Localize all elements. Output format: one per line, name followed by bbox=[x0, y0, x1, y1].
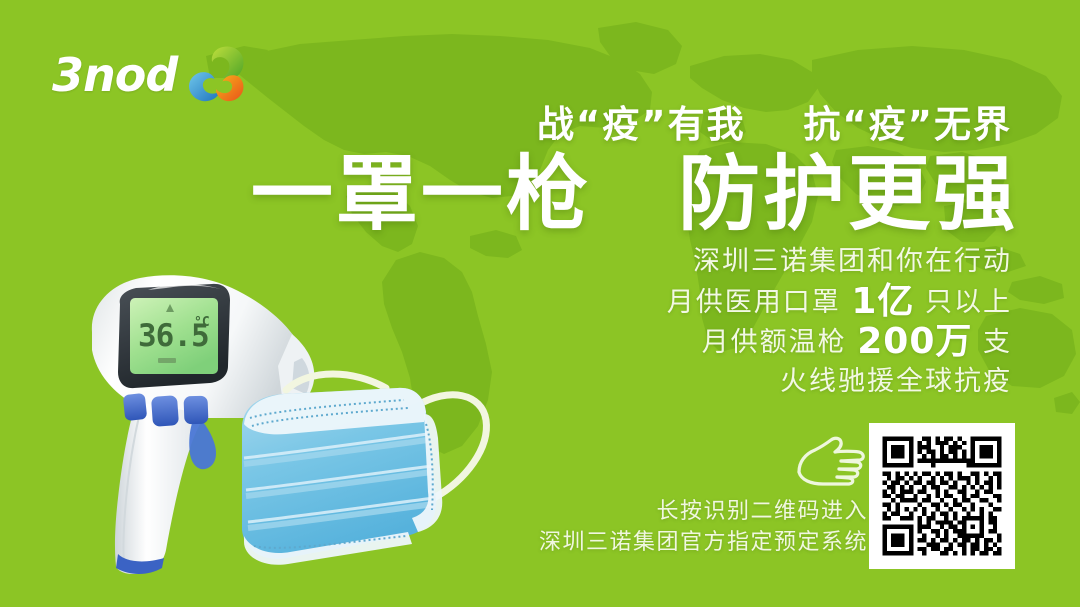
copy-line-emphasis: 200万 bbox=[857, 321, 972, 362]
brand-logo: 3nod bbox=[52, 44, 249, 106]
surgical-face-mask bbox=[228, 368, 528, 583]
qr-code[interactable] bbox=[869, 423, 1015, 569]
copy-line: 深圳三诺集团和你在行动 bbox=[667, 242, 1012, 282]
copy-line: 火线驰援全球抗疫 bbox=[667, 362, 1012, 402]
poster-canvas: 3nod 战“疫”有我 抗“疫”无界 一罩一枪 bbox=[0, 0, 1080, 607]
copy-line-pre: 月供额温枪 bbox=[702, 327, 847, 358]
headline-sub-left: 战“疫”有我 bbox=[537, 103, 746, 146]
thermometer-unit: °C bbox=[194, 315, 210, 330]
body-copy: 深圳三诺集团和你在行动 月供医用口罩 1亿 只以上 月供额温枪 200万 支 火… bbox=[667, 242, 1012, 402]
copy-line: 月供额温枪 200万 支 bbox=[667, 322, 1012, 362]
copy-line-emphasis: 1亿 bbox=[851, 281, 914, 322]
qr-code-image[interactable] bbox=[878, 432, 1006, 560]
headline-sub-right: 抗“疫”无界 bbox=[803, 103, 1012, 146]
headline-main-right: 防护更强 bbox=[678, 147, 1018, 242]
copy-line-post: 只以上 bbox=[925, 287, 1012, 318]
copy-line-post: 支 bbox=[983, 327, 1012, 358]
copy-line-pre: 月供医用口罩 bbox=[667, 287, 841, 318]
brand-wordmark: 3nod bbox=[52, 52, 177, 98]
trefoil-swirl-logo-icon bbox=[183, 44, 249, 106]
qr-caption-line-2: 深圳三诺集团官方指定预定系统 bbox=[539, 527, 868, 558]
qr-caption-line-1: 长按识别二维码进入 bbox=[539, 496, 868, 527]
copy-line-pre: 深圳三诺集团和你在行动 bbox=[693, 246, 1012, 277]
pointing-hand-icon bbox=[797, 432, 869, 494]
headline-subtitle: 战“疫”有我 抗“疫”无界 bbox=[537, 94, 1012, 148]
copy-line-pre: 火线驰援全球抗疫 bbox=[780, 366, 1012, 397]
headline-main-left: 一罩一枪 bbox=[251, 147, 591, 242]
copy-line: 月供医用口罩 1亿 只以上 bbox=[667, 282, 1012, 322]
qr-caption: 长按识别二维码进入 深圳三诺集团官方指定预定系统 bbox=[539, 496, 868, 558]
headline-main: 一罩一枪 防护更强 bbox=[251, 152, 1018, 238]
